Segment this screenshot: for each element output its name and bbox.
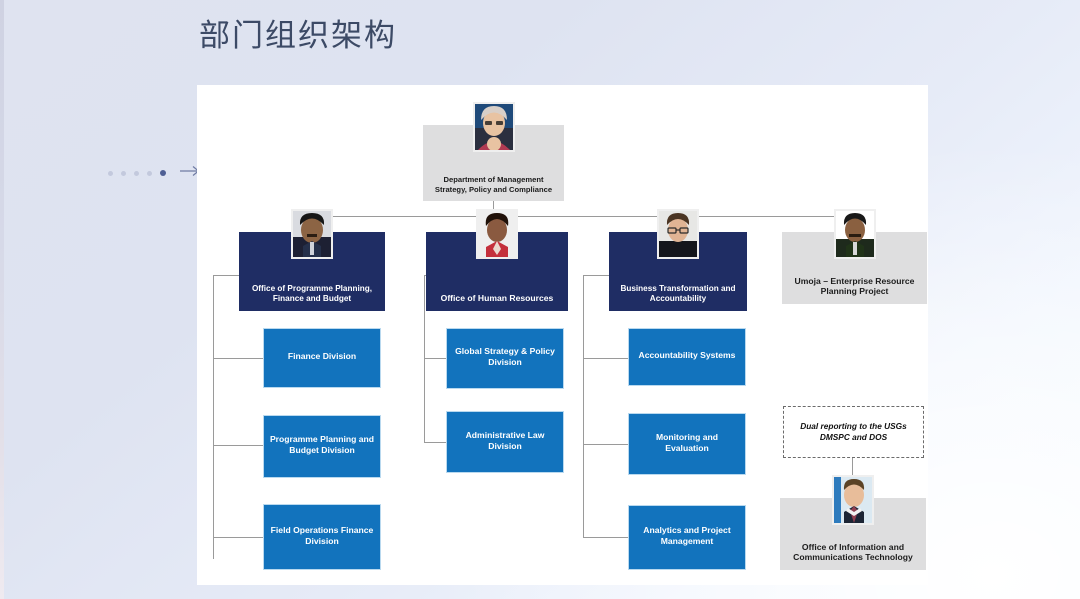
avatar-business-transformation (657, 209, 699, 259)
pager-dot-2[interactable] (121, 171, 126, 176)
org-node-gspd-label: Global Strategy & Policy Division (452, 346, 558, 367)
connector-stub-col3-a (583, 358, 628, 359)
org-node-finance-division[interactable]: Finance Division (263, 328, 381, 388)
avatar-human-resources (476, 209, 518, 259)
avatar-root (473, 102, 515, 152)
avatar-programme-planning (291, 209, 333, 259)
org-node-umoja-label: Umoja – Enterprise Resource Planning Pro… (787, 276, 922, 297)
org-node-global-strategy-policy-division[interactable]: Global Strategy & Policy Division (446, 328, 564, 389)
org-node-col2-label: Office of Human Resources (431, 293, 563, 304)
org-node-finance-division-label: Finance Division (269, 351, 375, 362)
org-node-root[interactable]: Department of Management Strategy, Polic… (423, 125, 564, 201)
connector-stub-col1-b (213, 445, 263, 446)
org-node-field-operations-finance-division[interactable]: Field Operations Finance Division (263, 504, 381, 570)
connector-stub-col2-b (424, 442, 446, 443)
connector-stub-col3-c (583, 537, 628, 538)
org-node-root-label: Department of Management Strategy, Polic… (428, 175, 559, 194)
connector-spine-col1 (213, 275, 214, 559)
left-edge-accent (0, 0, 4, 599)
connector-stub-col3-b (583, 444, 628, 445)
org-node-apm-label: Analytics and Project Management (634, 525, 740, 546)
org-node-monitoring-evaluation[interactable]: Monitoring and Evaluation (628, 413, 746, 475)
org-node-programme-planning-budget-division[interactable]: Programme Planning and Budget Division (263, 415, 381, 478)
slide-pager[interactable] (108, 164, 201, 182)
pager-dot-3[interactable] (134, 171, 139, 176)
connector-spine-col3 (583, 275, 584, 537)
org-chart-card: Department of Management Strategy, Polic… (197, 85, 928, 585)
org-node-ppbd-label: Programme Planning and Budget Division (269, 434, 375, 455)
org-node-col1-label: Office of Programme Planning, Finance an… (244, 284, 380, 305)
connector-stub-col1-c (213, 537, 263, 538)
dual-reporting-note-label: Dual reporting to the USGs DMSPC and DOS (790, 421, 917, 443)
avatar-oict (832, 475, 874, 525)
org-node-administrative-law-division[interactable]: Administrative Law Division (446, 411, 564, 473)
org-node-human-resources[interactable]: Office of Human Resources (426, 232, 568, 311)
connector-stub-col2-a (424, 358, 446, 359)
org-node-monitoring-evaluation-label: Monitoring and Evaluation (634, 432, 740, 453)
connector-stub-col1-a (213, 358, 263, 359)
pager-dot-1[interactable] (108, 171, 113, 176)
org-node-accountability-systems-label: Accountability Systems (634, 350, 740, 361)
org-node-ald-label: Administrative Law Division (452, 430, 558, 451)
org-node-oict-label: Office of Information and Communications… (785, 542, 921, 563)
org-node-oict[interactable]: Office of Information and Communications… (780, 498, 926, 570)
pager-dot-4[interactable] (147, 171, 152, 176)
org-node-business-transformation-accountability[interactable]: Business Transformation and Accountabili… (609, 232, 747, 311)
org-node-analytics-project-management[interactable]: Analytics and Project Management (628, 505, 746, 570)
page-title: 部门组织架构 (199, 10, 397, 55)
org-node-accountability-systems[interactable]: Accountability Systems (628, 328, 746, 386)
pager-dot-5-active[interactable] (160, 170, 166, 176)
connector-stub-col1-top (213, 275, 239, 276)
dual-reporting-note: Dual reporting to the USGs DMSPC and DOS (783, 406, 924, 458)
org-node-umoja-erp[interactable]: Umoja – Enterprise Resource Planning Pro… (782, 232, 927, 304)
org-node-col3-label: Business Transformation and Accountabili… (614, 284, 742, 305)
connector-stub-col3-top (583, 275, 609, 276)
avatar-umoja (834, 209, 876, 259)
org-node-programme-planning-finance-budget[interactable]: Office of Programme Planning, Finance an… (239, 232, 385, 311)
connector-main-bus (308, 216, 854, 217)
org-node-fofd-label: Field Operations Finance Division (269, 525, 375, 546)
